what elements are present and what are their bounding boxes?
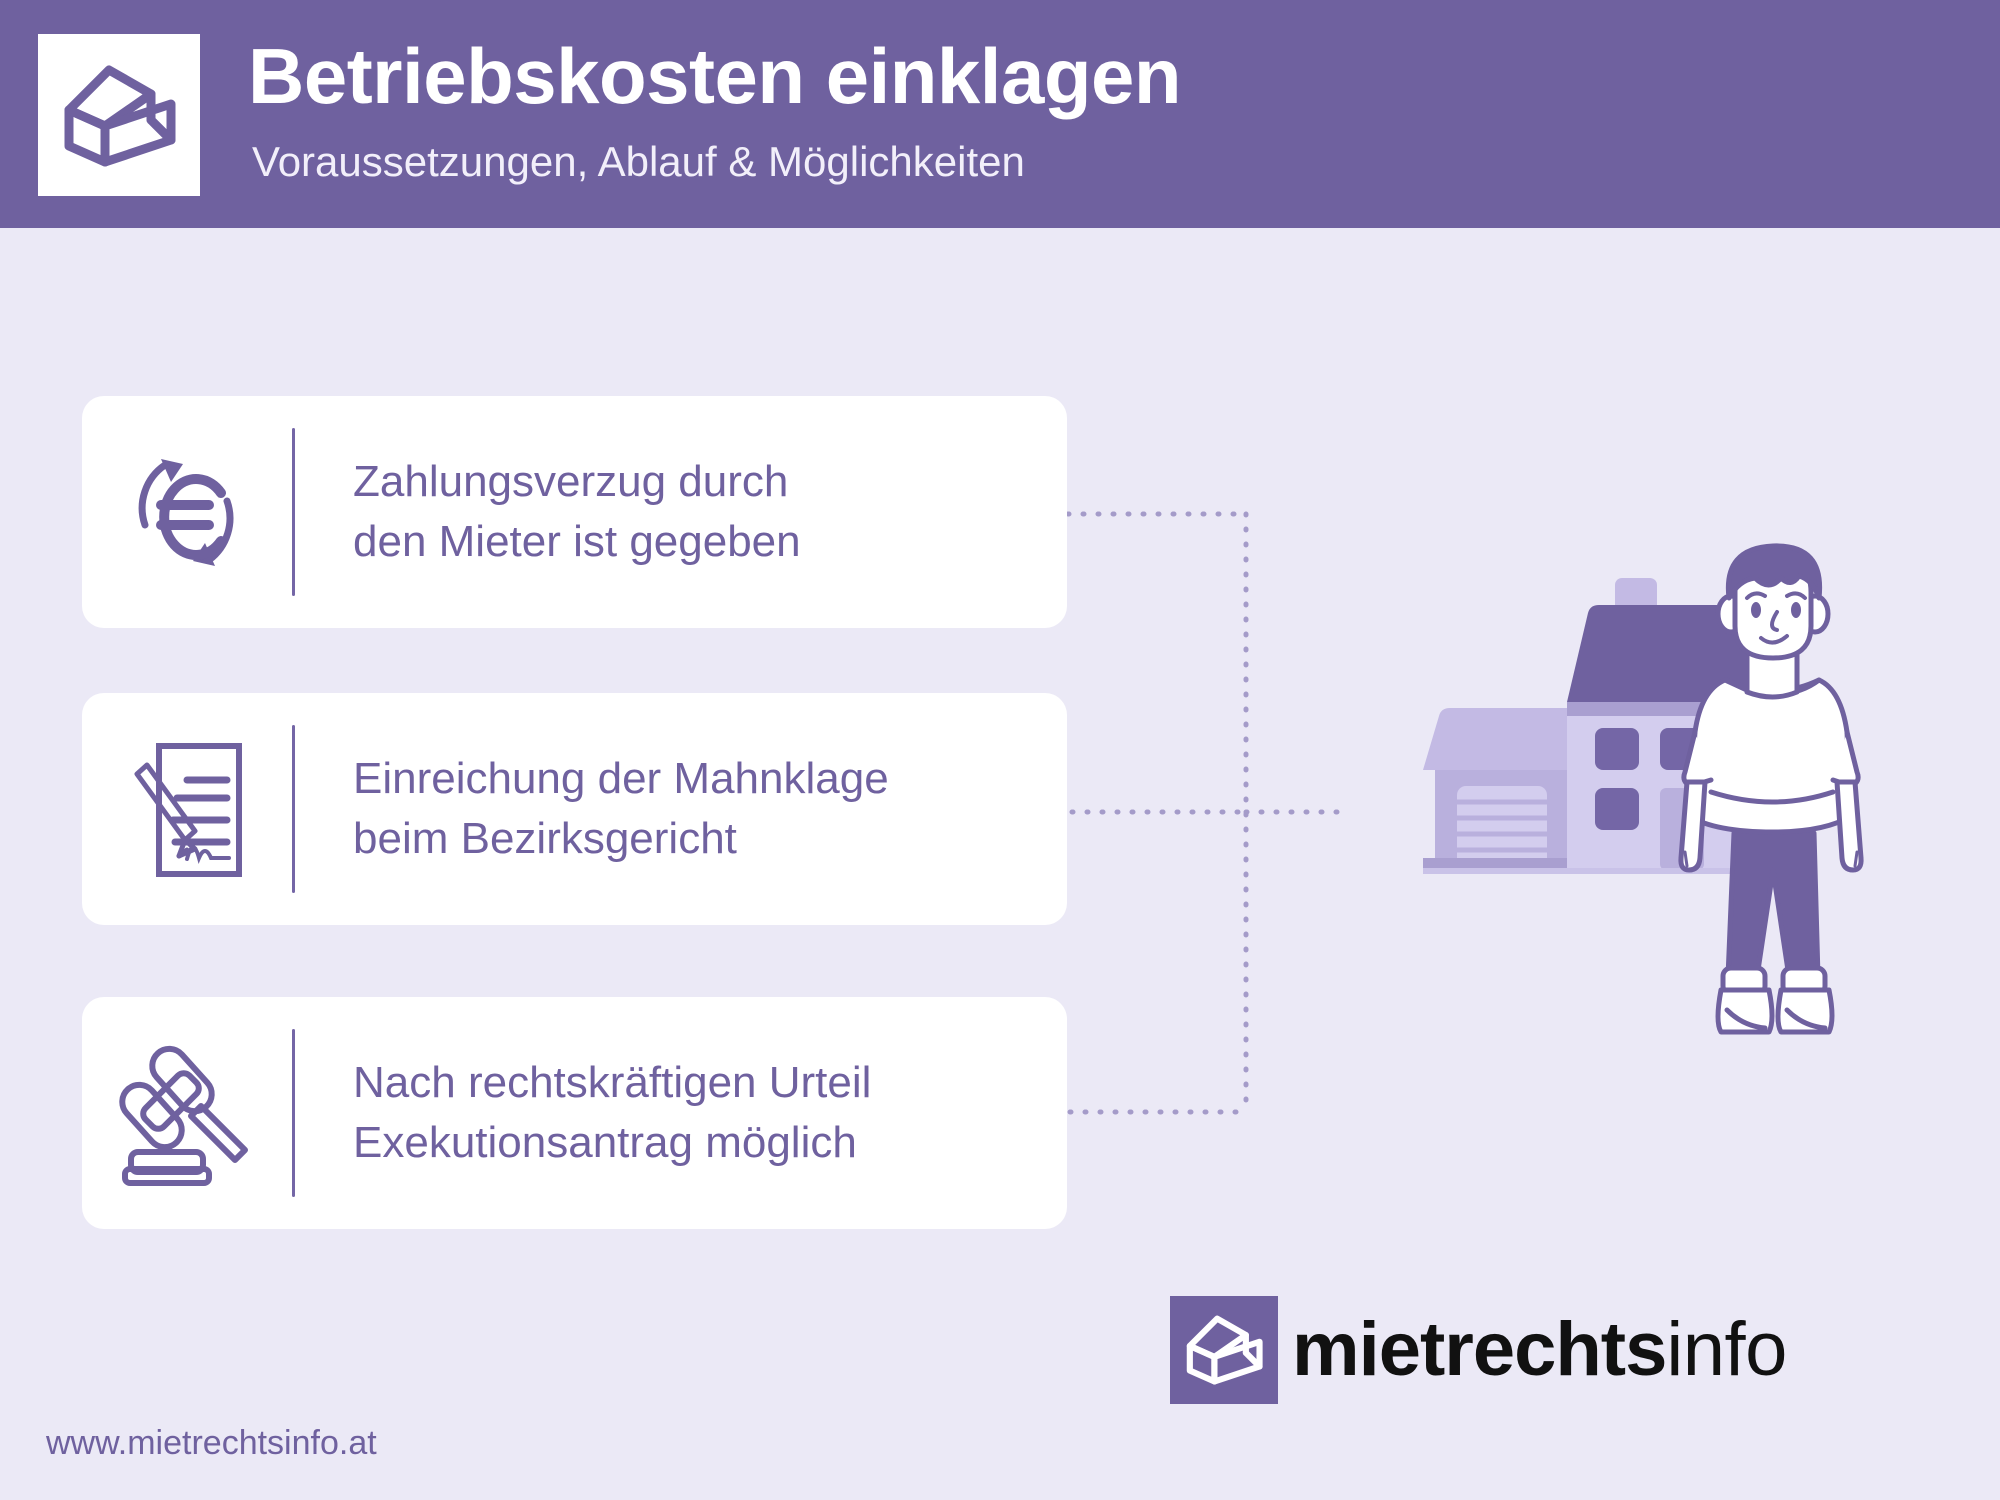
footer-wordmark: mietrechtsinfo <box>1292 1312 1787 1388</box>
gavel-icon <box>104 1028 290 1198</box>
step-card-2-text: Einreichung der Mahnklage beim Bezirksge… <box>305 749 907 869</box>
footer-logo-tile <box>1170 1296 1278 1404</box>
card-divider <box>292 1029 295 1197</box>
step-card-1[interactable]: Zahlungsverzug durch den Mieter ist gege… <box>82 396 1067 628</box>
card-divider <box>292 725 295 893</box>
step-card-2[interactable]: Einreichung der Mahnklage beim Bezirksge… <box>82 693 1067 925</box>
footer-wordmark-light: info <box>1666 1307 1787 1392</box>
footer-logo: mietrechtsinfo <box>1170 1296 1787 1404</box>
step-card-3[interactable]: Nach rechtskräftigen Urteil Exekutionsan… <box>82 997 1067 1229</box>
header-logo-tile <box>38 34 200 196</box>
step-card-3-text: Nach rechtskräftigen Urteil Exekutionsan… <box>305 1053 889 1173</box>
header-bar: Betriebskosten einklagen Voraussetzungen… <box>0 0 2000 228</box>
house-outline-logo-icon <box>59 58 179 173</box>
house-outline-logo-icon <box>1183 1310 1265 1391</box>
card-divider <box>292 428 295 596</box>
euro-refresh-icon <box>104 427 290 597</box>
step-card-1-text: Zahlungsverzug durch den Mieter ist gege… <box>305 452 819 572</box>
house-and-person-illustration <box>1395 540 1955 1070</box>
footer-url[interactable]: www.mietrechtsinfo.at <box>46 1424 377 1463</box>
page-title: Betriebskosten einklagen <box>248 36 1181 118</box>
document-signature-pen-icon <box>104 724 290 894</box>
footer-wordmark-bold: mietrechts <box>1292 1307 1666 1392</box>
page-subtitle: Voraussetzungen, Ablauf & Möglichkeiten <box>252 138 1025 186</box>
